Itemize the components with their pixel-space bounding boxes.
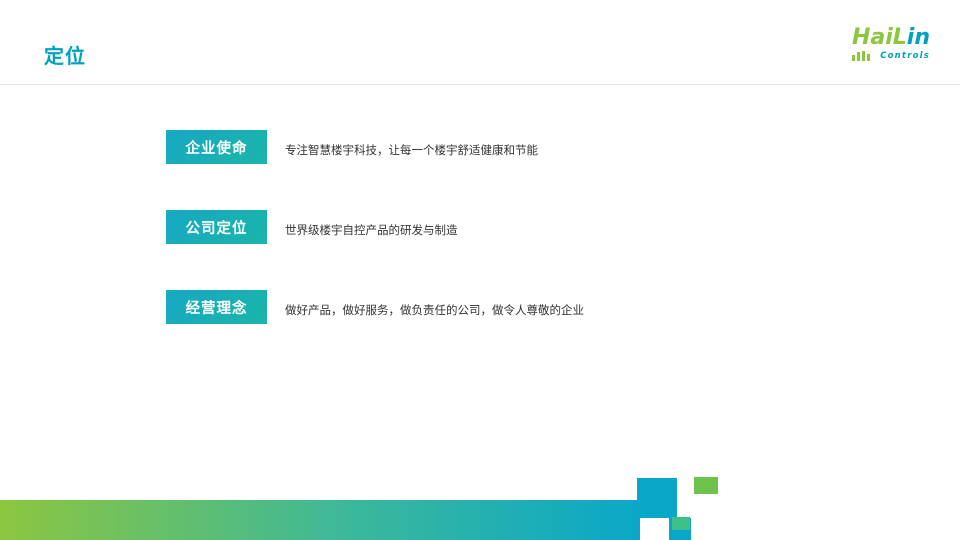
logo-wordmark-part1: HaiL (852, 25, 907, 50)
list-item: 企业使命 专注智慧楼宇科技，让每一个楼宇舒适健康和节能 (166, 130, 866, 170)
logo-subtitle: Controls (880, 51, 930, 61)
row-description: 做好产品，做好服务，做负责任的公司，做令人尊敬的企业 (285, 302, 584, 318)
list-item: 经营理念 做好产品，做好服务，做负责任的公司，做令人尊敬的企业 (166, 290, 866, 330)
header-divider (0, 84, 960, 85)
list-item: 公司定位 世界级楼宇自控产品的研发与制造 (166, 210, 866, 250)
row-description: 专注智慧楼宇科技，让每一个楼宇舒适健康和节能 (285, 142, 538, 158)
brand-logo: HaiLin Controls (810, 26, 930, 66)
decorative-square-large (637, 478, 677, 518)
logo-bars-icon (852, 51, 870, 61)
slide-canvas: 定位 HaiLin Controls 企业使命 专注智慧楼宇科技，让每一个楼宇舒… (0, 0, 960, 540)
row-description: 世界级楼宇自控产品的研发与制造 (285, 222, 458, 238)
content-rows: 企业使命 专注智慧楼宇科技，让每一个楼宇舒适健康和节能 公司定位 世界级楼宇自控… (166, 130, 866, 370)
row-label-badge: 公司定位 (166, 210, 267, 244)
logo-wordmark: HaiLin (852, 26, 930, 50)
footer-gradient-band (0, 500, 640, 540)
decorative-square-green-top (694, 477, 718, 494)
row-label-badge: 经营理念 (166, 290, 267, 324)
logo-wordmark-part2: in (907, 25, 930, 50)
decorative-square-green-small (672, 517, 690, 530)
row-label-badge: 企业使命 (166, 130, 267, 164)
page-title: 定位 (44, 42, 86, 70)
